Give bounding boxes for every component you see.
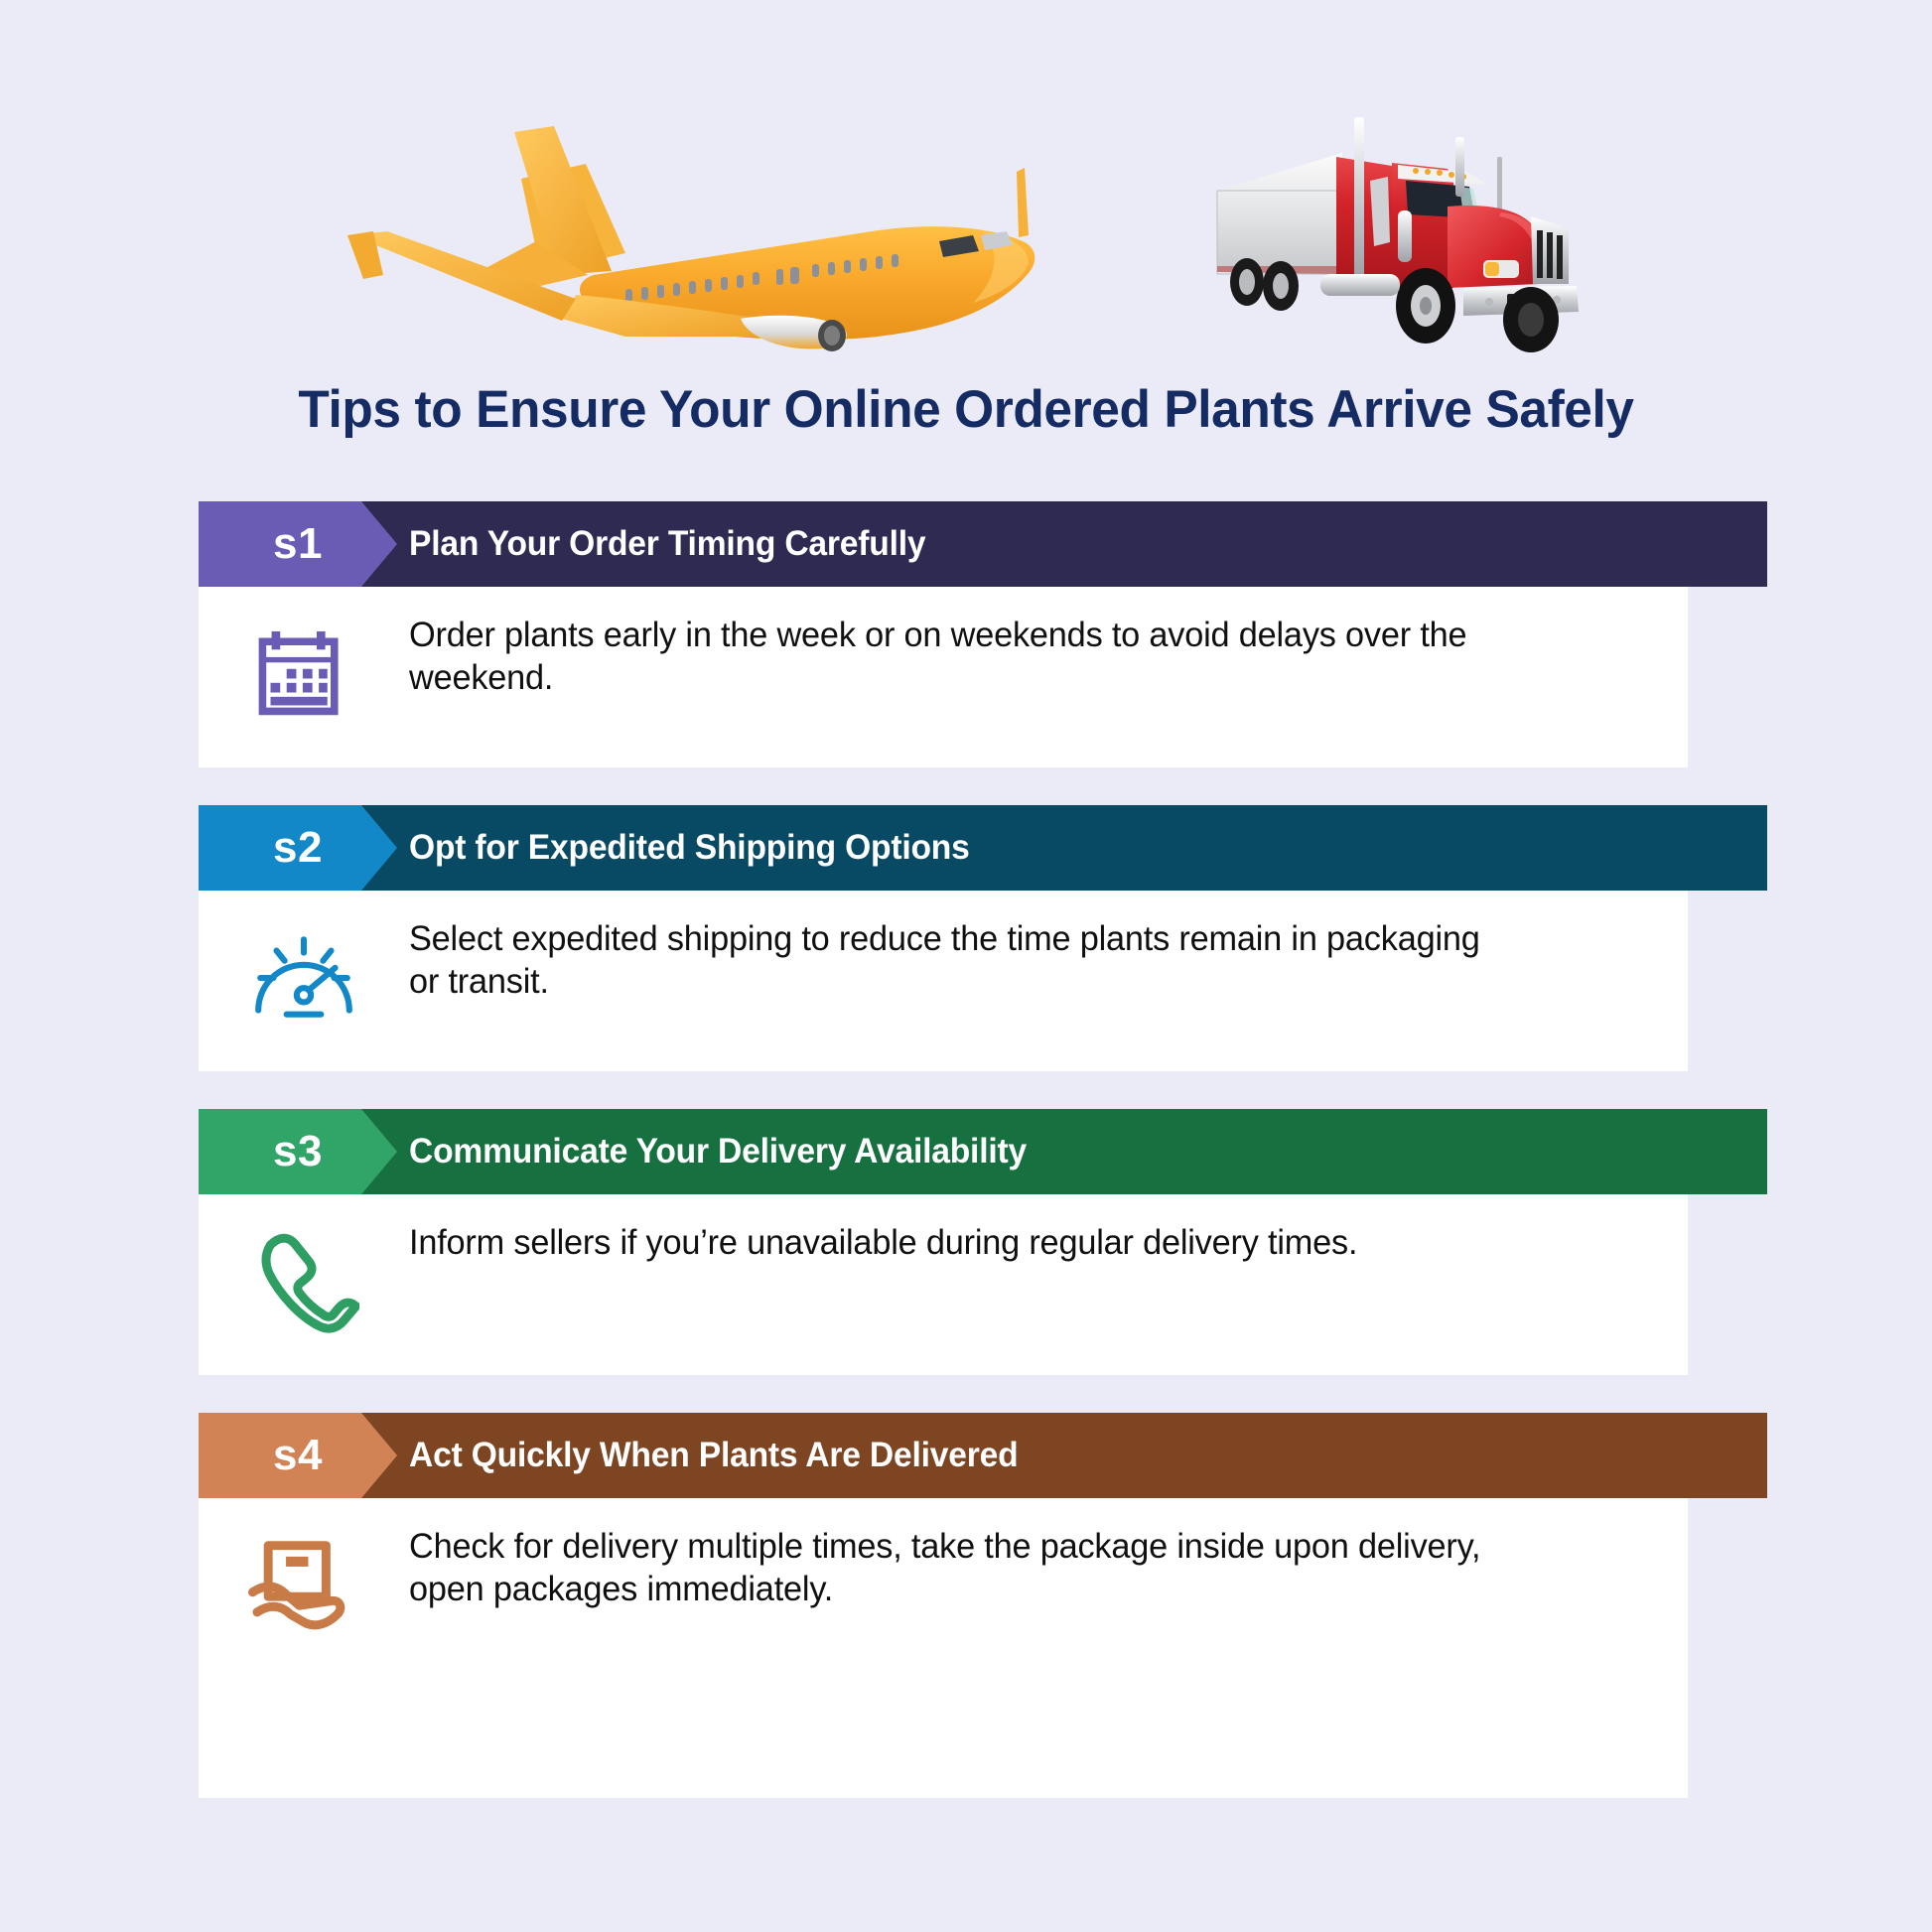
semi-truck-image — [1203, 107, 1620, 357]
step-badge-4: s4 — [199, 1413, 397, 1498]
step-header-1: s1 Plan Your Order Timing Carefully — [199, 501, 1767, 587]
hero-banner — [0, 0, 1932, 387]
step-text-1: Order plants early in the week or on wee… — [409, 615, 1662, 699]
package-in-hand-icon — [199, 1526, 409, 1641]
step-header-3: s3 Communicate Your Delivery Availabilit… — [199, 1109, 1767, 1194]
step-text-3: Inform sellers if you’re unavailable dur… — [409, 1222, 1662, 1265]
step-body-2: Select expedited shipping to reduce the … — [199, 891, 1688, 1071]
step-body-3: Inform sellers if you’re unavailable dur… — [199, 1194, 1688, 1375]
step-body-4: Check for delivery multiple times, take … — [199, 1498, 1688, 1679]
step-item-3: s3 Communicate Your Delivery Availabilit… — [0, 1109, 1932, 1413]
step-badge-3: s3 — [199, 1109, 397, 1194]
phone-icon — [199, 1222, 409, 1337]
airplane-image — [328, 124, 1042, 352]
bottom-panel-spacer — [199, 1679, 1688, 1798]
page-title: Tips to Ensure Your Online Ordered Plant… — [29, 379, 1903, 440]
step-title-3: Communicate Your Delivery Availability — [409, 1132, 1027, 1172]
step-title-4: Act Quickly When Plants Are Delivered — [409, 1436, 1018, 1475]
step-text-4: Check for delivery multiple times, take … — [409, 1526, 1662, 1610]
step-item-4: s4 Act Quickly When Plants Are Delivered… — [0, 1413, 1932, 1679]
step-item-1: s1 Plan Your Order Timing Carefully — [0, 501, 1932, 805]
speedometer-icon — [199, 918, 409, 1030]
step-body-1: Order plants early in the week or on wee… — [199, 587, 1688, 767]
step-badge-2: s2 — [199, 805, 397, 891]
step-badge-1: s1 — [199, 501, 397, 587]
step-gap-1 — [0, 767, 1932, 805]
step-text-2: Select expedited shipping to reduce the … — [409, 918, 1662, 1003]
steps-list: s1 Plan Your Order Timing Carefully — [0, 501, 1932, 1798]
step-title-2: Opt for Expedited Shipping Options — [409, 828, 970, 868]
step-gap-3 — [0, 1375, 1932, 1413]
step-header-2: s2 Opt for Expedited Shipping Options — [199, 805, 1767, 891]
step-gap-2 — [0, 1071, 1932, 1109]
step-header-4: s4 Act Quickly When Plants Are Delivered — [199, 1413, 1767, 1498]
step-item-2: s2 Opt for Expedited Shipping Options — [0, 805, 1932, 1109]
calendar-icon — [199, 615, 409, 726]
step-title-1: Plan Your Order Timing Carefully — [409, 524, 925, 564]
